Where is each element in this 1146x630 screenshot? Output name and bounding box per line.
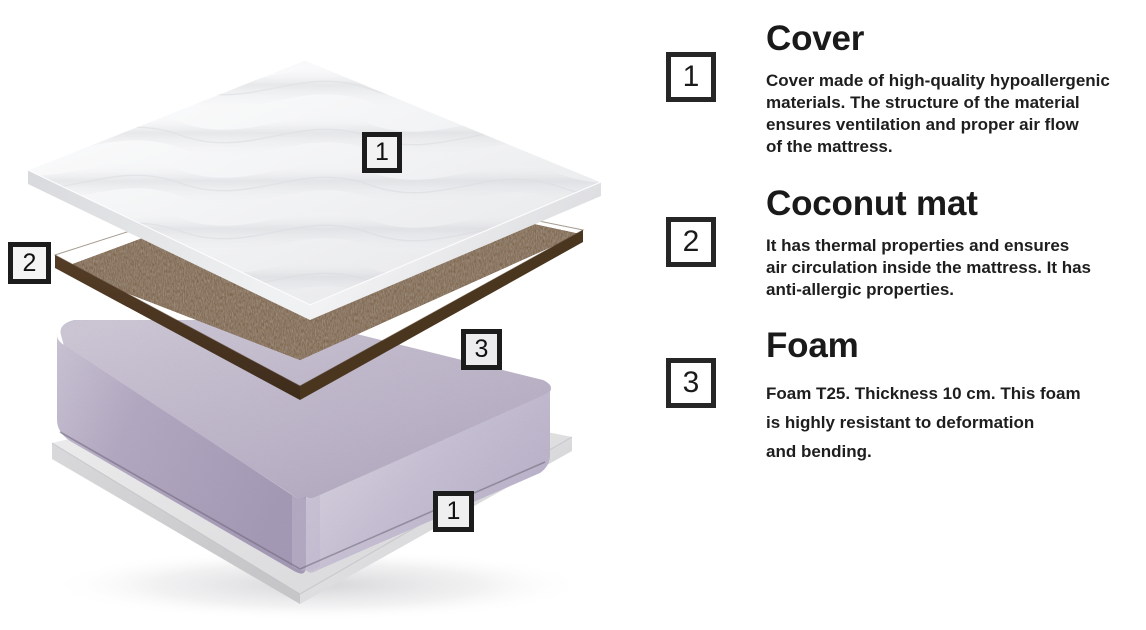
callout-badge-cover-bottom: 1 xyxy=(433,491,474,532)
section-number-badge-1: 1 xyxy=(666,52,716,102)
section-title-coconut-mat: Coconut mat xyxy=(766,175,1146,221)
callout-badge-coconut: 2 xyxy=(8,242,51,284)
section-text-coconut-mat: It has thermal properties and ensures ai… xyxy=(766,221,1146,301)
section-number-badge-3: 3 xyxy=(666,358,716,408)
layer-description-panel: 1 Cover Cover made of high-quality hypoa… xyxy=(650,0,1146,630)
exploded-mattress-illustration: 1 2 3 1 xyxy=(0,0,650,630)
callout-badge-cover-top: 1 xyxy=(362,132,402,173)
section-body-foam: Foam Foam T25. Thickness 10 cm. This foa… xyxy=(766,317,1146,466)
section-title-foam: Foam xyxy=(766,317,1146,363)
section-number-badge-2: 2 xyxy=(666,217,716,267)
section-body-coconut-mat: Coconut mat It has thermal properties an… xyxy=(766,175,1146,301)
section-title-cover: Cover xyxy=(766,10,1146,56)
section-body-cover: Cover Cover made of high-quality hypoall… xyxy=(766,10,1146,158)
section-text-cover: Cover made of high-quality hypoallergeni… xyxy=(766,56,1146,158)
callout-badge-foam: 3 xyxy=(461,329,502,370)
section-text-foam: Foam T25. Thickness 10 cm. This foam is … xyxy=(766,363,1146,466)
